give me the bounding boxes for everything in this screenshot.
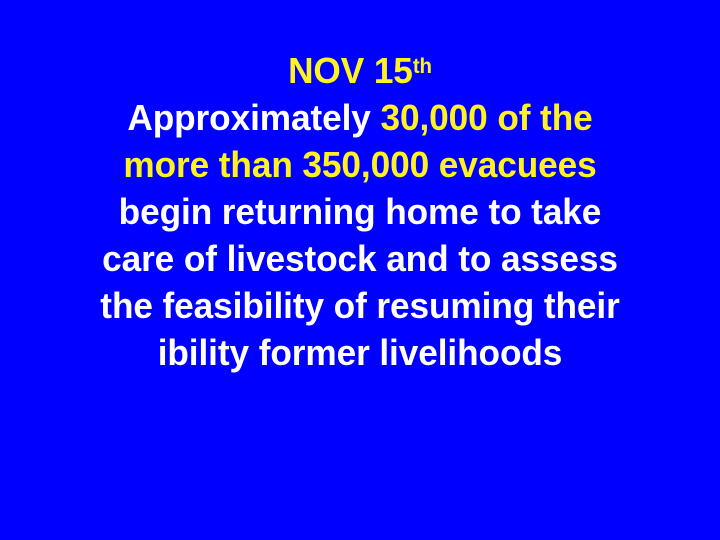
slide-body-line-2: more than 350,000 evacuees [13,141,708,188]
body-line-4-segment-1: care of livestock and to assess [102,238,618,279]
body-line-6-segment-1: ibility former livelihoods [158,332,563,373]
slide-text-block: NOV 15th Approximately 30,000 of the mor… [0,47,720,376]
slide-body-line-5: the feasibility of resuming their [13,282,708,329]
body-line-2-segment-1: more than 350,000 evacuees [123,144,596,185]
presentation-slide: NOV 15th Approximately 30,000 of the mor… [0,0,720,540]
heading-ordinal-suffix: th [413,55,432,78]
slide-body-line-1: Approximately 30,000 of the [13,94,708,141]
slide-body-line-4: care of livestock and to assess [13,235,708,282]
slide-heading-line: NOV 15th [13,47,708,94]
heading-date-label: NOV 15 [288,50,413,91]
body-line-1-segment-1: Approximately [127,97,380,138]
slide-body-line-6: ibility former livelihoods [13,329,708,376]
body-line-3-segment-1: begin returning home to take [119,191,602,232]
body-line-5-segment-1: the feasibility of resuming their [100,285,619,326]
slide-body-line-3: begin returning home to take [13,188,708,235]
body-line-1-segment-2: 30,000 of the [380,97,592,138]
